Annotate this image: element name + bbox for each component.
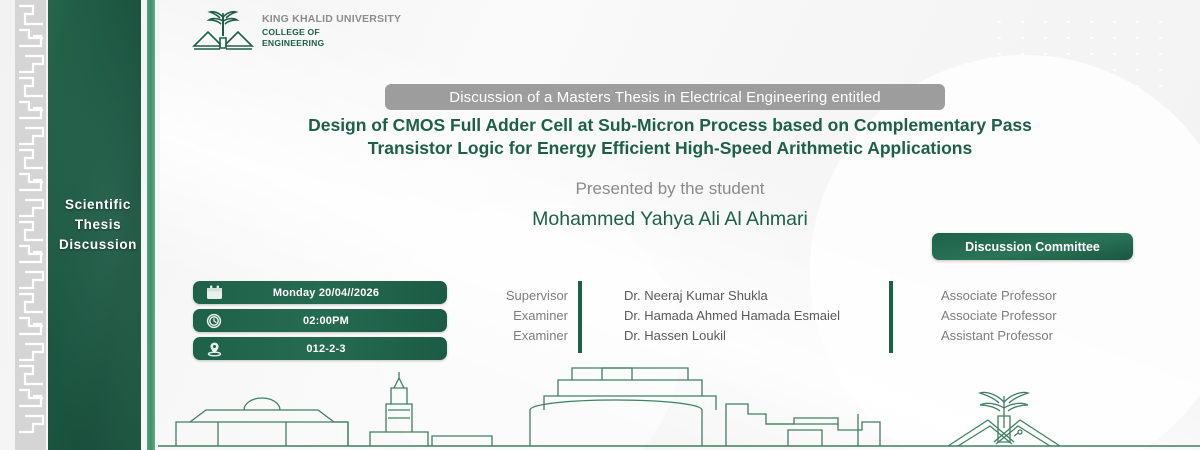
committee-role-0: Supervisor [470, 286, 568, 306]
discussion-committee-badge-text: Discussion Committee [965, 240, 1100, 254]
detail-pill-date-value: Monday 20/04//2026 [235, 287, 447, 299]
detail-pill-location-value: 012-2-3 [235, 343, 447, 355]
committee-name-1: Dr. Hamada Ahmed Hamada Esmaiel [624, 306, 840, 326]
detail-pill-date: Monday 20/04//2026 [193, 281, 447, 304]
thesis-title-line-1: Design of CMOS Full Adder Cell at Sub-Mi… [200, 114, 1140, 137]
thesis-title-line-2: Transistor Logic for Energy Efficient Hi… [200, 137, 1140, 160]
calendar-icon [193, 285, 235, 300]
presented-by-label: Presented by the student [300, 179, 1040, 199]
rail-accent-stripe [147, 0, 155, 450]
committee-role-1: Examiner [470, 306, 568, 326]
thesis-discussion-poster: Scientific Thesis Discussion KING KHALID… [0, 0, 1200, 450]
event-details-list: Monday 20/04//2026 02:00PM 012-2-3 [193, 281, 447, 365]
committee-name-2: Dr. Hassen Loukil [624, 326, 840, 346]
committee-divider-right [889, 281, 893, 353]
rail-title-text: Scientific Thesis Discussion [59, 195, 137, 256]
logo-college-line-1: COLLEGE OF [262, 28, 401, 37]
committee-role-2: Examiner [470, 326, 568, 346]
committee-titles-column: Associate Professor Associate Professor … [941, 286, 1057, 346]
city-skyline-line-art-icon [158, 360, 1200, 450]
clock-icon [193, 313, 235, 329]
committee-title-0: Associate Professor [941, 286, 1057, 306]
dot-grid-pattern [988, 14, 1164, 92]
thesis-title: Design of CMOS Full Adder Cell at Sub-Mi… [200, 114, 1140, 160]
logo-text-block: KING KHALID UNIVERSITY COLLEGE OF ENGINE… [262, 12, 401, 47]
committee-divider-left [578, 281, 582, 353]
committee-title-1: Associate Professor [941, 306, 1057, 326]
committee-roles-column: Supervisor Examiner Examiner [470, 286, 568, 346]
headline-banner-text: Discussion of a Masters Thesis in Electr… [449, 89, 880, 106]
logo-college-line-2: ENGINEERING [262, 39, 401, 48]
committee-title-2: Assistant Professor [941, 326, 1057, 346]
committee-name-0: Dr. Neeraj Kumar Shukla [624, 286, 840, 306]
committee-names-column: Dr. Neeraj Kumar Shukla Dr. Hamada Ahmed… [624, 286, 840, 346]
detail-pill-time-value: 02:00PM [235, 315, 447, 327]
kku-palm-swords-logo-icon [192, 8, 254, 52]
kufic-geometric-pattern-icon [15, 0, 46, 450]
location-pin-icon [193, 341, 235, 357]
rail-title: Scientific Thesis Discussion [48, 0, 148, 450]
logo-university-name: KING KHALID UNIVERSITY [262, 14, 401, 25]
headline-banner: Discussion of a Masters Thesis in Electr… [385, 84, 945, 110]
university-logo: KING KHALID UNIVERSITY COLLEGE OF ENGINE… [192, 8, 401, 52]
detail-pill-location: 012-2-3 [193, 337, 447, 360]
detail-pill-time: 02:00PM [193, 309, 447, 332]
student-name: Mohammed Yahya Ali Al Ahmari [300, 208, 1040, 231]
discussion-committee-badge: Discussion Committee [932, 233, 1133, 260]
